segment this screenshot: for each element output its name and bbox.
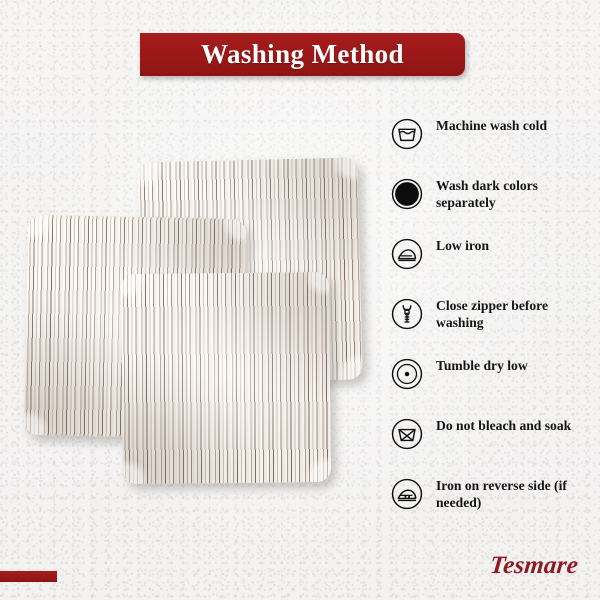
product-image-cushions	[12, 155, 372, 475]
iron-low-icon	[390, 237, 424, 271]
washing-method-poster: Washing Method	[0, 0, 600, 600]
care-row-machine-wash-cold: Machine wash cold	[390, 116, 595, 176]
care-row-tumble-dry-low: Tumble dry low	[390, 356, 595, 416]
pillow-overlap	[121, 272, 331, 484]
care-label-close-zipper: Close zipper before washing	[436, 297, 591, 331]
care-label-machine-wash-cold: Machine wash cold	[436, 117, 547, 134]
care-row-do-not-bleach: Do not bleach and soak	[390, 416, 595, 476]
care-instruction-list: Machine wash cold Wash dark colors separ…	[390, 116, 595, 536]
care-label-low-iron: Low iron	[436, 237, 489, 254]
pillow-stripe-texture	[121, 272, 331, 484]
zipper-icon	[390, 297, 424, 331]
care-row-low-iron: Low iron	[390, 236, 595, 296]
no-bleach-icon	[390, 417, 424, 451]
care-row-iron-reverse: Iron on reverse side (if needed)	[390, 476, 595, 536]
care-label-wash-dark-separately: Wash dark colors separately	[436, 177, 591, 211]
page-title: Washing Method	[201, 39, 404, 70]
care-row-close-zipper: Close zipper before washing	[390, 296, 595, 356]
care-row-wash-dark-separately: Wash dark colors separately	[390, 176, 595, 236]
filled-circle-icon	[390, 177, 424, 211]
brand-logo: Tesmare	[489, 552, 580, 580]
care-label-tumble-dry-low: Tumble dry low	[436, 357, 528, 374]
care-label-iron-reverse: Iron on reverse side (if needed)	[436, 477, 591, 511]
tumble-dry-low-icon	[390, 357, 424, 391]
title-banner: Washing Method	[140, 33, 465, 76]
footer-accent-rule	[0, 571, 57, 582]
care-label-do-not-bleach: Do not bleach and soak	[436, 417, 571, 434]
wash-tub-icon	[390, 117, 424, 151]
iron-reverse-icon	[390, 477, 424, 511]
